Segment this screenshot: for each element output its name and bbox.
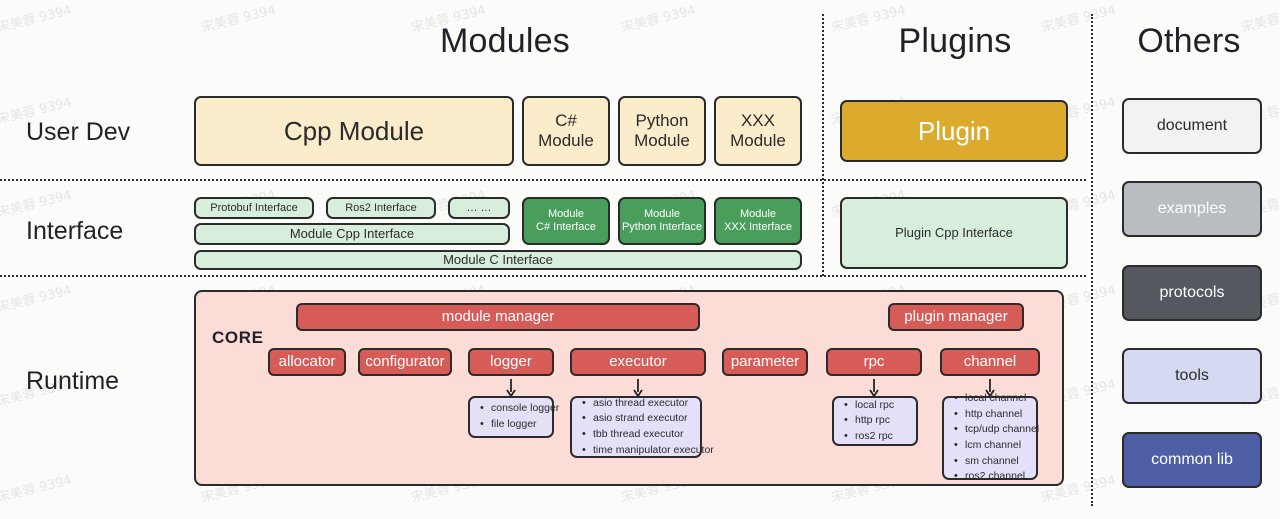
core-detail-rpc: local rpc http rpc ros2 rpc — [832, 396, 918, 446]
column-title-modules: Modules — [190, 22, 820, 61]
row-label-runtime: Runtime — [26, 367, 119, 396]
list-item: http channel — [954, 407, 1028, 423]
others-box-document[interactable]: document — [1122, 98, 1262, 154]
interface-module-c[interactable]: Module C Interface — [194, 250, 802, 270]
list-item: tbb thread executor — [582, 427, 692, 443]
list-item: lcm channel — [954, 438, 1028, 454]
divider-userdev-interface-right — [824, 179, 1086, 181]
core-module-manager[interactable]: module manager — [296, 303, 700, 331]
row-label-interface: Interface — [26, 217, 123, 246]
core-plugin-manager[interactable]: plugin manager — [888, 303, 1024, 331]
module-box-python[interactable]: Python Module — [618, 96, 706, 166]
column-title-plugins: Plugins — [824, 22, 1086, 61]
core-component-executor[interactable]: executor — [570, 348, 706, 376]
list-item: console logger — [480, 401, 544, 417]
interface-ros2[interactable]: Ros2 Interface — [326, 197, 436, 219]
core-detail-logger: console logger file logger — [468, 396, 554, 438]
watermark: 宋美蓉 9394 — [0, 184, 73, 221]
detail-list-rpc: local rpc http rpc ros2 rpc — [844, 398, 908, 445]
detail-list-executor: asio thread executor asio strand executo… — [582, 396, 692, 458]
watermark: 宋美蓉 9394 — [0, 279, 73, 316]
divider-plugins-others — [1091, 14, 1093, 506]
row-label-user-dev: User Dev — [26, 118, 130, 147]
divider-interface-runtime-right — [824, 275, 1086, 277]
list-item: ros2 channel — [954, 469, 1028, 485]
list-item: sm channel — [954, 454, 1028, 470]
watermark: 宋美蓉 9394 — [0, 469, 73, 506]
watermark: 宋美蓉 9394 — [0, 0, 73, 36]
divider-interface-runtime-left — [0, 275, 822, 277]
list-item: ros2 rpc — [844, 429, 908, 445]
plugin-box[interactable]: Plugin — [840, 100, 1068, 162]
interface-protobuf[interactable]: Protobuf Interface — [194, 197, 314, 219]
divider-modules-plugins — [822, 14, 824, 276]
list-item: time manipulator executor — [582, 443, 692, 459]
module-box-cpp[interactable]: Cpp Module — [194, 96, 514, 166]
arrow-down-rpc — [867, 378, 881, 398]
interface-ellipsis[interactable]: … … — [448, 197, 510, 219]
core-component-configurator[interactable]: configurator — [358, 348, 452, 376]
core-detail-executor: asio thread executor asio strand executo… — [570, 396, 702, 458]
list-item: local channel — [954, 391, 1028, 407]
others-box-protocols[interactable]: protocols — [1122, 265, 1262, 321]
interface-module-python[interactable]: Module Python Interface — [618, 197, 706, 245]
interface-module-cpp[interactable]: Module Cpp Interface — [194, 223, 510, 245]
others-box-tools[interactable]: tools — [1122, 348, 1262, 404]
detail-list-channel: local channel http channel tcp/udp chann… — [954, 391, 1028, 484]
others-box-common-lib[interactable]: common lib — [1122, 432, 1262, 488]
interface-plugin-cpp[interactable]: Plugin Cpp Interface — [840, 197, 1068, 269]
arrow-down-logger — [504, 378, 518, 398]
core-label: CORE — [212, 328, 264, 348]
list-item: file logger — [480, 417, 544, 433]
core-component-allocator[interactable]: allocator — [268, 348, 346, 376]
core-component-parameter[interactable]: parameter — [722, 348, 808, 376]
others-box-examples[interactable]: examples — [1122, 181, 1262, 237]
detail-list-logger: console logger file logger — [480, 401, 544, 432]
module-box-csharp[interactable]: C# Module — [522, 96, 610, 166]
list-item: asio thread executor — [582, 396, 692, 412]
list-item: local rpc — [844, 398, 908, 414]
list-item: http rpc — [844, 413, 908, 429]
divider-userdev-interface-left — [0, 179, 822, 181]
interface-module-csharp[interactable]: Module C# Interface — [522, 197, 610, 245]
list-item: asio strand executor — [582, 411, 692, 427]
diagram-canvas: 宋美蓉 9394 宋美蓉 9394 宋美蓉 9394 宋美蓉 9394 宋美蓉 … — [0, 0, 1280, 519]
column-title-others: Others — [1098, 22, 1280, 61]
core-component-rpc[interactable]: rpc — [826, 348, 922, 376]
module-box-xxx[interactable]: XXX Module — [714, 96, 802, 166]
interface-module-xxx[interactable]: Module XXX Interface — [714, 197, 802, 245]
core-component-channel[interactable]: channel — [940, 348, 1040, 376]
core-component-logger[interactable]: logger — [468, 348, 554, 376]
core-detail-channel: local channel http channel tcp/udp chann… — [942, 396, 1038, 480]
list-item: tcp/udp channel — [954, 422, 1028, 438]
